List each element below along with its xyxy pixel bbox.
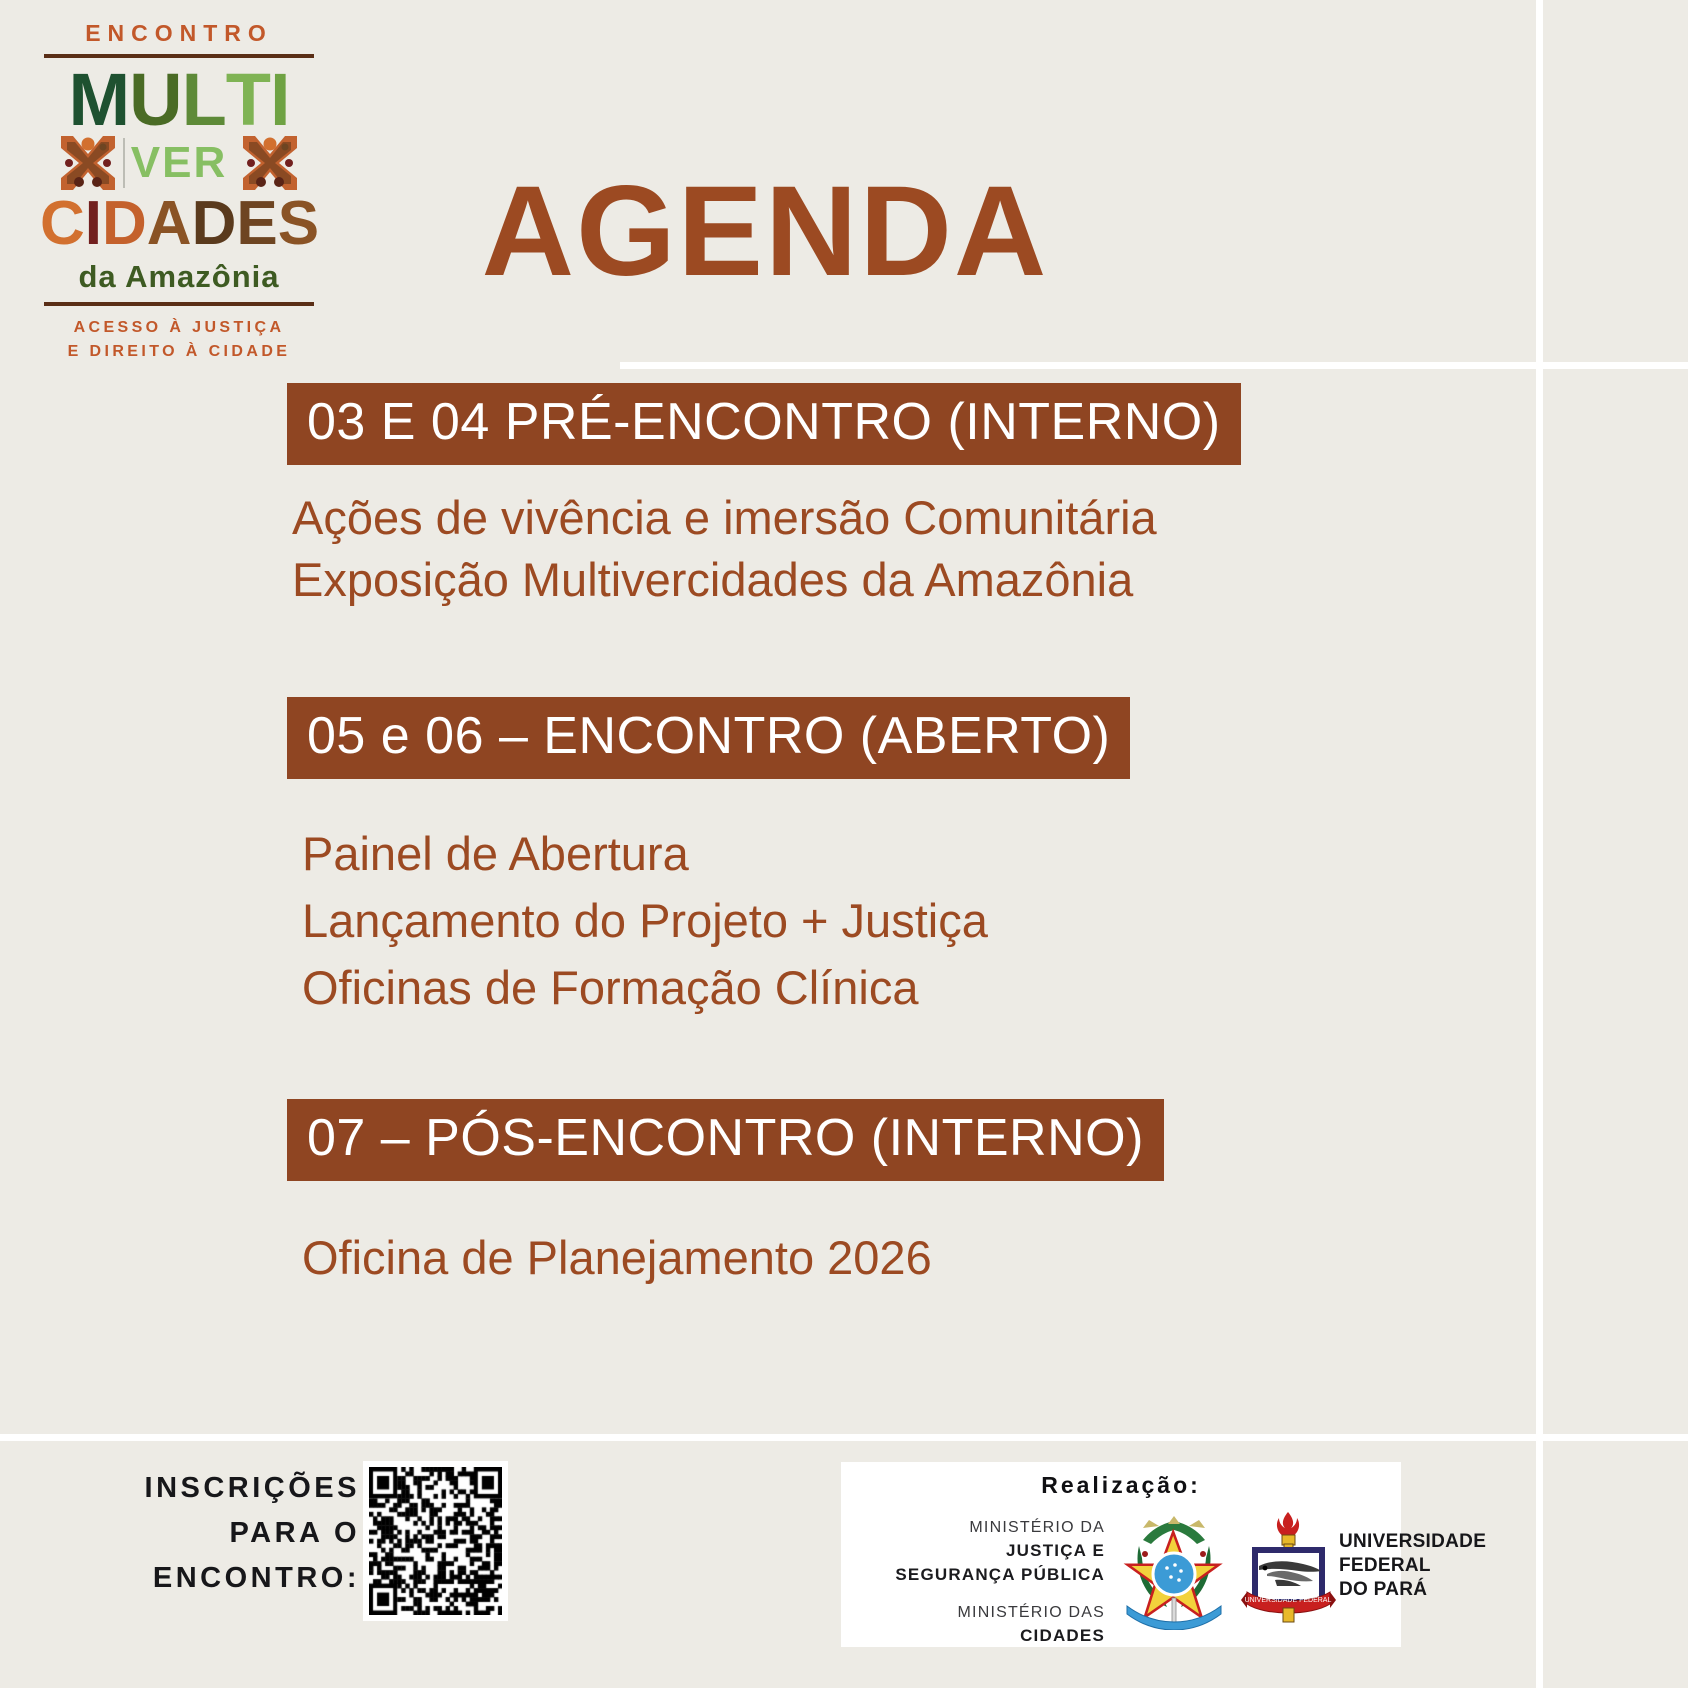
logo-divider-bottom (44, 302, 314, 306)
realizacao-label: Realização: (841, 1472, 1401, 1499)
logo-multi-letter: I (270, 62, 290, 137)
logo-multi-letter: T (226, 62, 270, 137)
section-2-item-2: Lançamento do Projeto + Justiça (302, 888, 1530, 955)
logo-multi-letter: U (129, 62, 181, 137)
inscricoes-line-2: PARA O (95, 1511, 360, 1556)
logo-encontro-label: ENCONTRO (40, 22, 318, 45)
grid-rule-horizontal-top (620, 362, 1688, 369)
ministry-1-line-3: SEGURANÇA PÚBLICA (855, 1563, 1105, 1586)
footer: INSCRIÇÕES PARA O ENCONTRO: Realização: … (0, 1441, 1688, 1688)
logo-tagline-line1: ACESSO À JUSTIÇA (40, 316, 318, 339)
ufpa-line-2: FEDERAL (1339, 1554, 1486, 1578)
ministry-1-line-2: JUSTIÇA E (855, 1539, 1105, 1562)
logo-multi-letter: L (182, 62, 226, 137)
brazil-coat-of-arms-icon (1119, 1510, 1229, 1630)
section-1-band-label: 03 E 04 PRÉ-ENCONTRO (INTERNO) (287, 383, 1241, 465)
logo-tagline: ACESSO À JUSTIÇA E DIREITO À CIDADE (40, 316, 318, 362)
agenda-section-1: 03 E 04 PRÉ-ENCONTRO (INTERNO) Ações de … (287, 383, 1530, 611)
agenda-section-2: 05 e 06 – ENCONTRO (ABERTO) Painel de Ab… (287, 697, 1530, 1021)
logo-multi-letter: M (68, 62, 129, 137)
section-1-items: Ações de vivência e imersão Comunitária … (292, 487, 1530, 611)
ministry-2-line-2: CIDADES (855, 1624, 1105, 1647)
ufpa-crest-icon: UNIVERSIDADE FEDERAL (1241, 1510, 1336, 1628)
agenda-section-3: 07 – PÓS-ENCONTRO (INTERNO) Oficina de P… (287, 1099, 1530, 1289)
inscricoes-line-1: INSCRIÇÕES (95, 1466, 360, 1511)
qr-code[interactable] (363, 1461, 508, 1621)
ufpa-line-3: DO PARÁ (1339, 1578, 1486, 1602)
ufpa-label: UNIVERSIDADE FEDERAL DO PARÁ (1339, 1530, 1486, 1601)
agenda-sections: 03 E 04 PRÉ-ENCONTRO (INTERNO) Ações de … (0, 383, 1530, 1289)
logo-tagline-line2: E DIREITO À CIDADE (40, 340, 318, 363)
svg-text:UNIVERSIDADE FEDERAL: UNIVERSIDADE FEDERAL (1245, 1597, 1332, 1604)
section-1-item-2: Exposição Multivercidades da Amazônia (292, 549, 1530, 611)
logo-word-multi: MULTI (40, 62, 318, 137)
section-2-band-label: 05 e 06 – ENCONTRO (ABERTO) (287, 697, 1130, 779)
section-3-items: Oficina de Planejamento 2026 (302, 1227, 1530, 1289)
grid-rule-horizontal-bottom (0, 1434, 1688, 1441)
section-3-item-1: Oficina de Planejamento 2026 (302, 1227, 1530, 1289)
section-2-items: Painel de Abertura Lançamento do Projeto… (302, 821, 1530, 1021)
section-1-item-1: Ações de vivência e imersão Comunitária (292, 487, 1530, 549)
ministry-text-block: MINISTÉRIO DA JUSTIÇA E SEGURANÇA PÚBLIC… (855, 1517, 1105, 1648)
inscricoes-line-3: ENCONTRO: (95, 1556, 360, 1601)
section-2-item-1: Painel de Abertura (302, 821, 1530, 888)
ufpa-line-1: UNIVERSIDADE (1339, 1530, 1486, 1554)
section-2-item-3: Oficinas de Formação Clínica (302, 955, 1530, 1022)
page-title: AGENDA (0, 168, 1530, 296)
ministry-2-line-1: MINISTÉRIO DAS (855, 1602, 1105, 1624)
inscricoes-label: INSCRIÇÕES PARA O ENCONTRO: (95, 1466, 360, 1601)
section-3-band-label: 07 – PÓS-ENCONTRO (INTERNO) (287, 1099, 1164, 1181)
realizacao-card: Realização: MINISTÉRIO DA JUSTIÇA E SEGU… (841, 1462, 1401, 1647)
ministry-1-line-1: MINISTÉRIO DA (855, 1517, 1105, 1539)
